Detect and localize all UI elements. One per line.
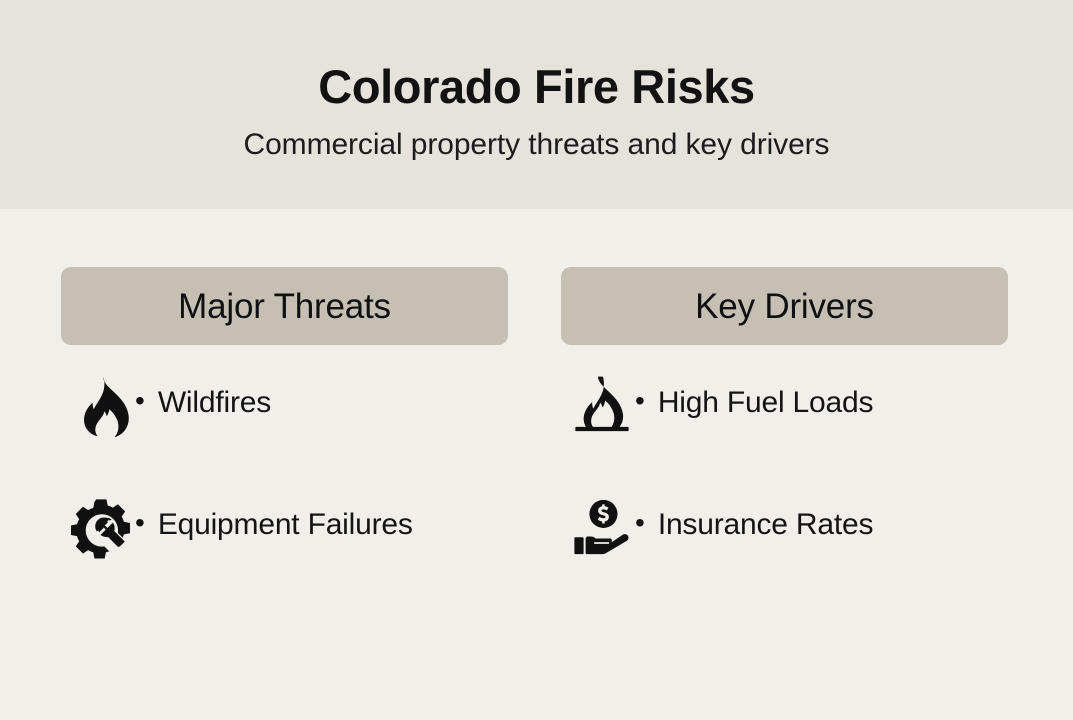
threat-list: • Wildfires • Equipment Failur	[61, 345, 508, 597]
hand-holding-coin-icon	[561, 497, 635, 571]
driver-list: • High Fuel Loads	[561, 345, 1008, 597]
list-item-label: High Fuel Loads	[658, 383, 873, 422]
bullet-marker: •	[635, 505, 645, 541]
column-heading-label: Key Drivers	[695, 289, 874, 324]
bullet-marker: •	[135, 383, 145, 419]
column-heading-label: Major Threats	[178, 289, 391, 324]
header-band: Colorado Fire Risks Commercial property …	[0, 0, 1073, 209]
list-item: • High Fuel Loads	[561, 375, 1008, 475]
list-item: • Wildfires	[61, 375, 508, 475]
list-item-label: Insurance Rates	[658, 505, 873, 544]
list-item: • Equipment Failures	[61, 497, 508, 597]
column-header-major-threats: Major Threats	[61, 267, 508, 345]
list-item: • Insurance Rates	[561, 497, 1008, 597]
list-item-text: • High Fuel Loads	[635, 375, 1008, 422]
list-item-label: Equipment Failures	[158, 505, 413, 544]
flame-fuel-icon	[561, 375, 635, 449]
content-board: Major Threats • Wildfires	[0, 209, 1073, 720]
list-item-label: Wildfires	[158, 383, 271, 422]
list-item-text: • Wildfires	[135, 375, 508, 422]
bullet-marker: •	[635, 383, 645, 419]
column-header-key-drivers: Key Drivers	[561, 267, 1008, 345]
page-title: Colorado Fire Risks	[318, 61, 754, 114]
page-subtitle: Commercial property threats and key driv…	[244, 128, 830, 163]
gear-wrench-icon	[61, 497, 135, 571]
infographic-page: Colorado Fire Risks Commercial property …	[0, 0, 1073, 720]
list-item-text: • Insurance Rates	[635, 497, 1008, 544]
bullet-marker: •	[135, 505, 145, 541]
column-major-threats: Major Threats • Wildfires	[61, 267, 508, 597]
list-item-text: • Equipment Failures	[135, 497, 508, 544]
column-key-drivers: Key Drivers • High Fuel Loads	[561, 267, 1008, 597]
flame-icon	[61, 375, 135, 449]
